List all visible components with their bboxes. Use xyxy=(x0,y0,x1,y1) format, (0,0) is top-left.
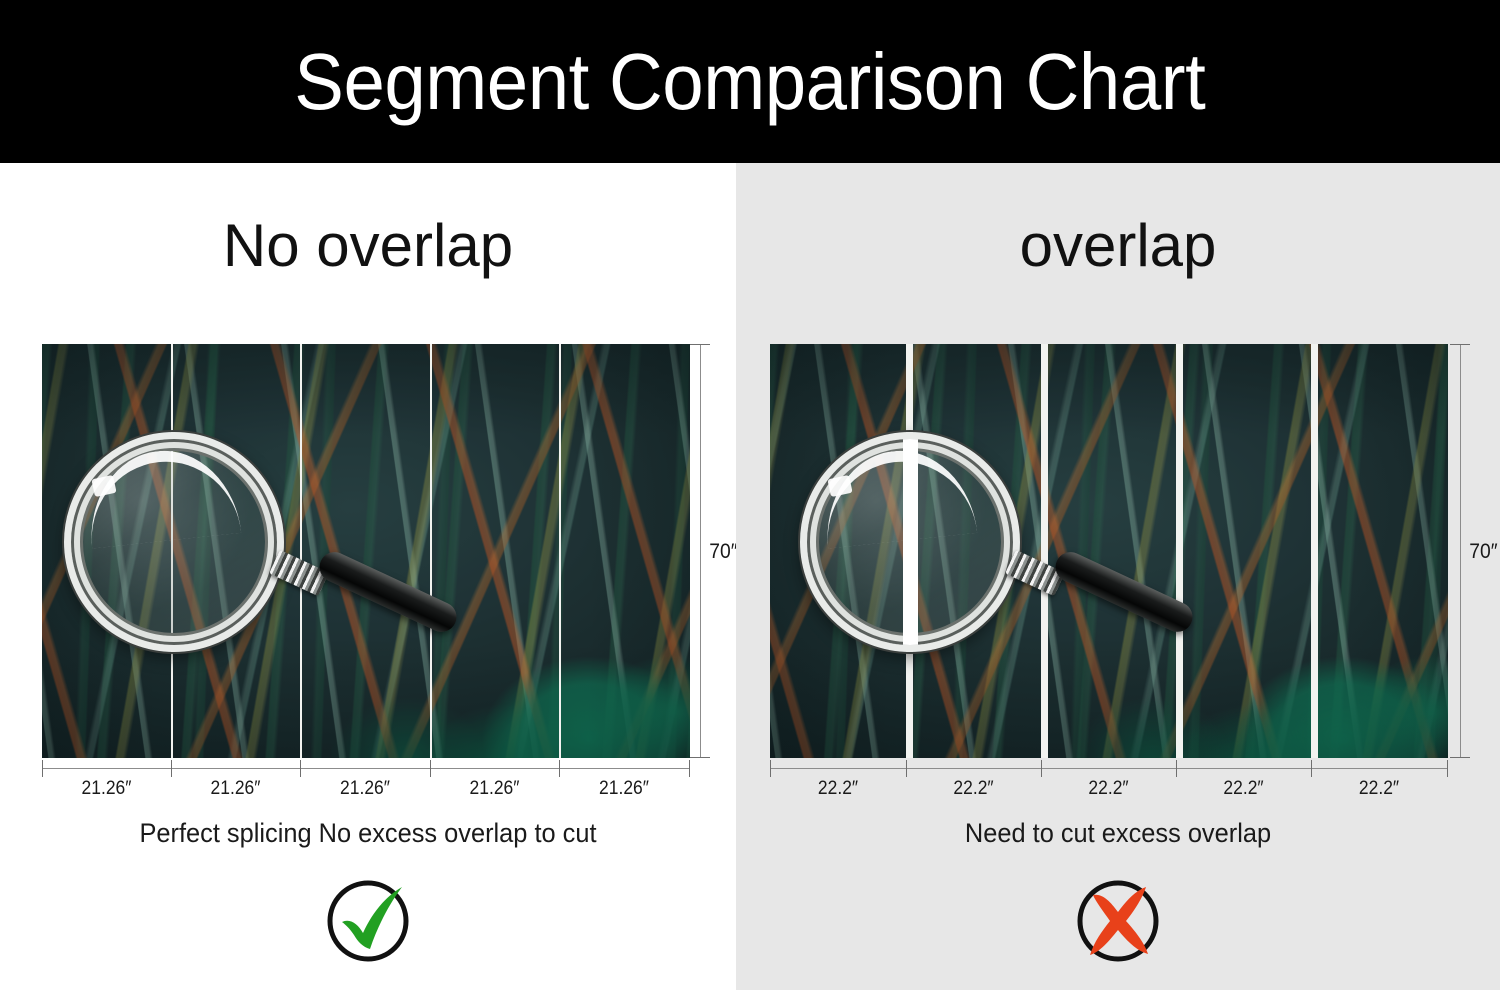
height-label-no-overlap: 70″ xyxy=(709,540,737,564)
image-vignette xyxy=(770,344,1448,758)
width-dimension-tick xyxy=(171,760,172,777)
height-dimension-line xyxy=(700,344,701,758)
height-label-overlap: 70″ xyxy=(1469,540,1497,564)
seam-divider-overlap xyxy=(1311,344,1318,758)
segment-width-label: 22.2″ xyxy=(1181,778,1305,800)
seam-divider xyxy=(559,344,561,758)
segment-width-label: 22.2″ xyxy=(1046,778,1170,800)
caption-overlap: Need to cut excess overlap xyxy=(759,818,1477,849)
width-dimension-line xyxy=(42,768,690,769)
segment-width-label: 21.26″ xyxy=(47,778,166,800)
caption-no-overlap: Perfect splicing No excess overlap to cu… xyxy=(22,818,714,849)
seam-divider xyxy=(171,344,173,758)
width-dimension-tick xyxy=(1041,760,1042,777)
height-dimension-line xyxy=(1460,344,1461,758)
seam-divider xyxy=(430,344,432,758)
width-dimension-tick xyxy=(1176,760,1177,777)
wallpaper-figure-no-overlap: 70″ 21.26″ 21.26″ 21.26″ 21.26″ 21.26″ xyxy=(42,344,690,758)
red-cross-icon xyxy=(1068,869,1168,969)
segment-width-label: 21.26″ xyxy=(176,778,295,800)
width-dimension-tick xyxy=(906,760,907,777)
height-dimension-cap-top xyxy=(690,344,710,345)
wallpaper-image-no-overlap xyxy=(42,344,690,758)
width-dimension-line xyxy=(770,768,1448,769)
panel-heading-overlap: overlap xyxy=(736,211,1500,280)
height-dimension-cap-bottom xyxy=(1450,757,1470,758)
green-check-icon xyxy=(318,869,418,969)
width-dimension-tick xyxy=(689,760,690,777)
width-dimension-tick xyxy=(559,760,560,777)
page-title: Segment Comparison Chart xyxy=(295,42,1206,122)
wallpaper-image-overlap xyxy=(770,344,1448,758)
panel-heading-no-overlap: No overlap xyxy=(0,211,736,280)
width-dimension-tick xyxy=(770,760,771,777)
segment-width-label: 21.26″ xyxy=(305,778,425,800)
wallpaper-figure-overlap: 70″ 22.2″ 22.2″ 22.2″ 22.2″ 22.2″ xyxy=(770,344,1448,758)
height-dimension-cap-top xyxy=(1450,344,1470,345)
width-dimension-tick xyxy=(1311,760,1312,777)
title-banner: Segment Comparison Chart xyxy=(0,0,1500,163)
width-dimension-tick xyxy=(300,760,301,777)
image-vignette xyxy=(42,344,690,758)
segment-comparison-figure: Segment Comparison Chart No overlap xyxy=(0,0,1500,990)
seam-divider-overlap xyxy=(1176,344,1183,758)
segment-width-label: 21.26″ xyxy=(435,778,554,800)
panel-overlap: overlap xyxy=(736,163,1500,990)
segment-width-label: 22.2″ xyxy=(911,778,1035,800)
seam-divider xyxy=(300,344,302,758)
panel-no-overlap: No overlap xyxy=(0,163,736,990)
width-dimension-tick xyxy=(42,760,43,777)
segment-width-label: 22.2″ xyxy=(1316,778,1441,800)
seam-divider-overlap xyxy=(1041,344,1048,758)
width-dimension-tick xyxy=(430,760,431,777)
segment-width-label: 22.2″ xyxy=(775,778,900,800)
segment-width-label: 21.26″ xyxy=(564,778,684,800)
height-dimension-cap-bottom xyxy=(690,757,710,758)
seam-divider-overlap xyxy=(906,344,913,758)
width-dimension-tick xyxy=(1447,760,1448,777)
